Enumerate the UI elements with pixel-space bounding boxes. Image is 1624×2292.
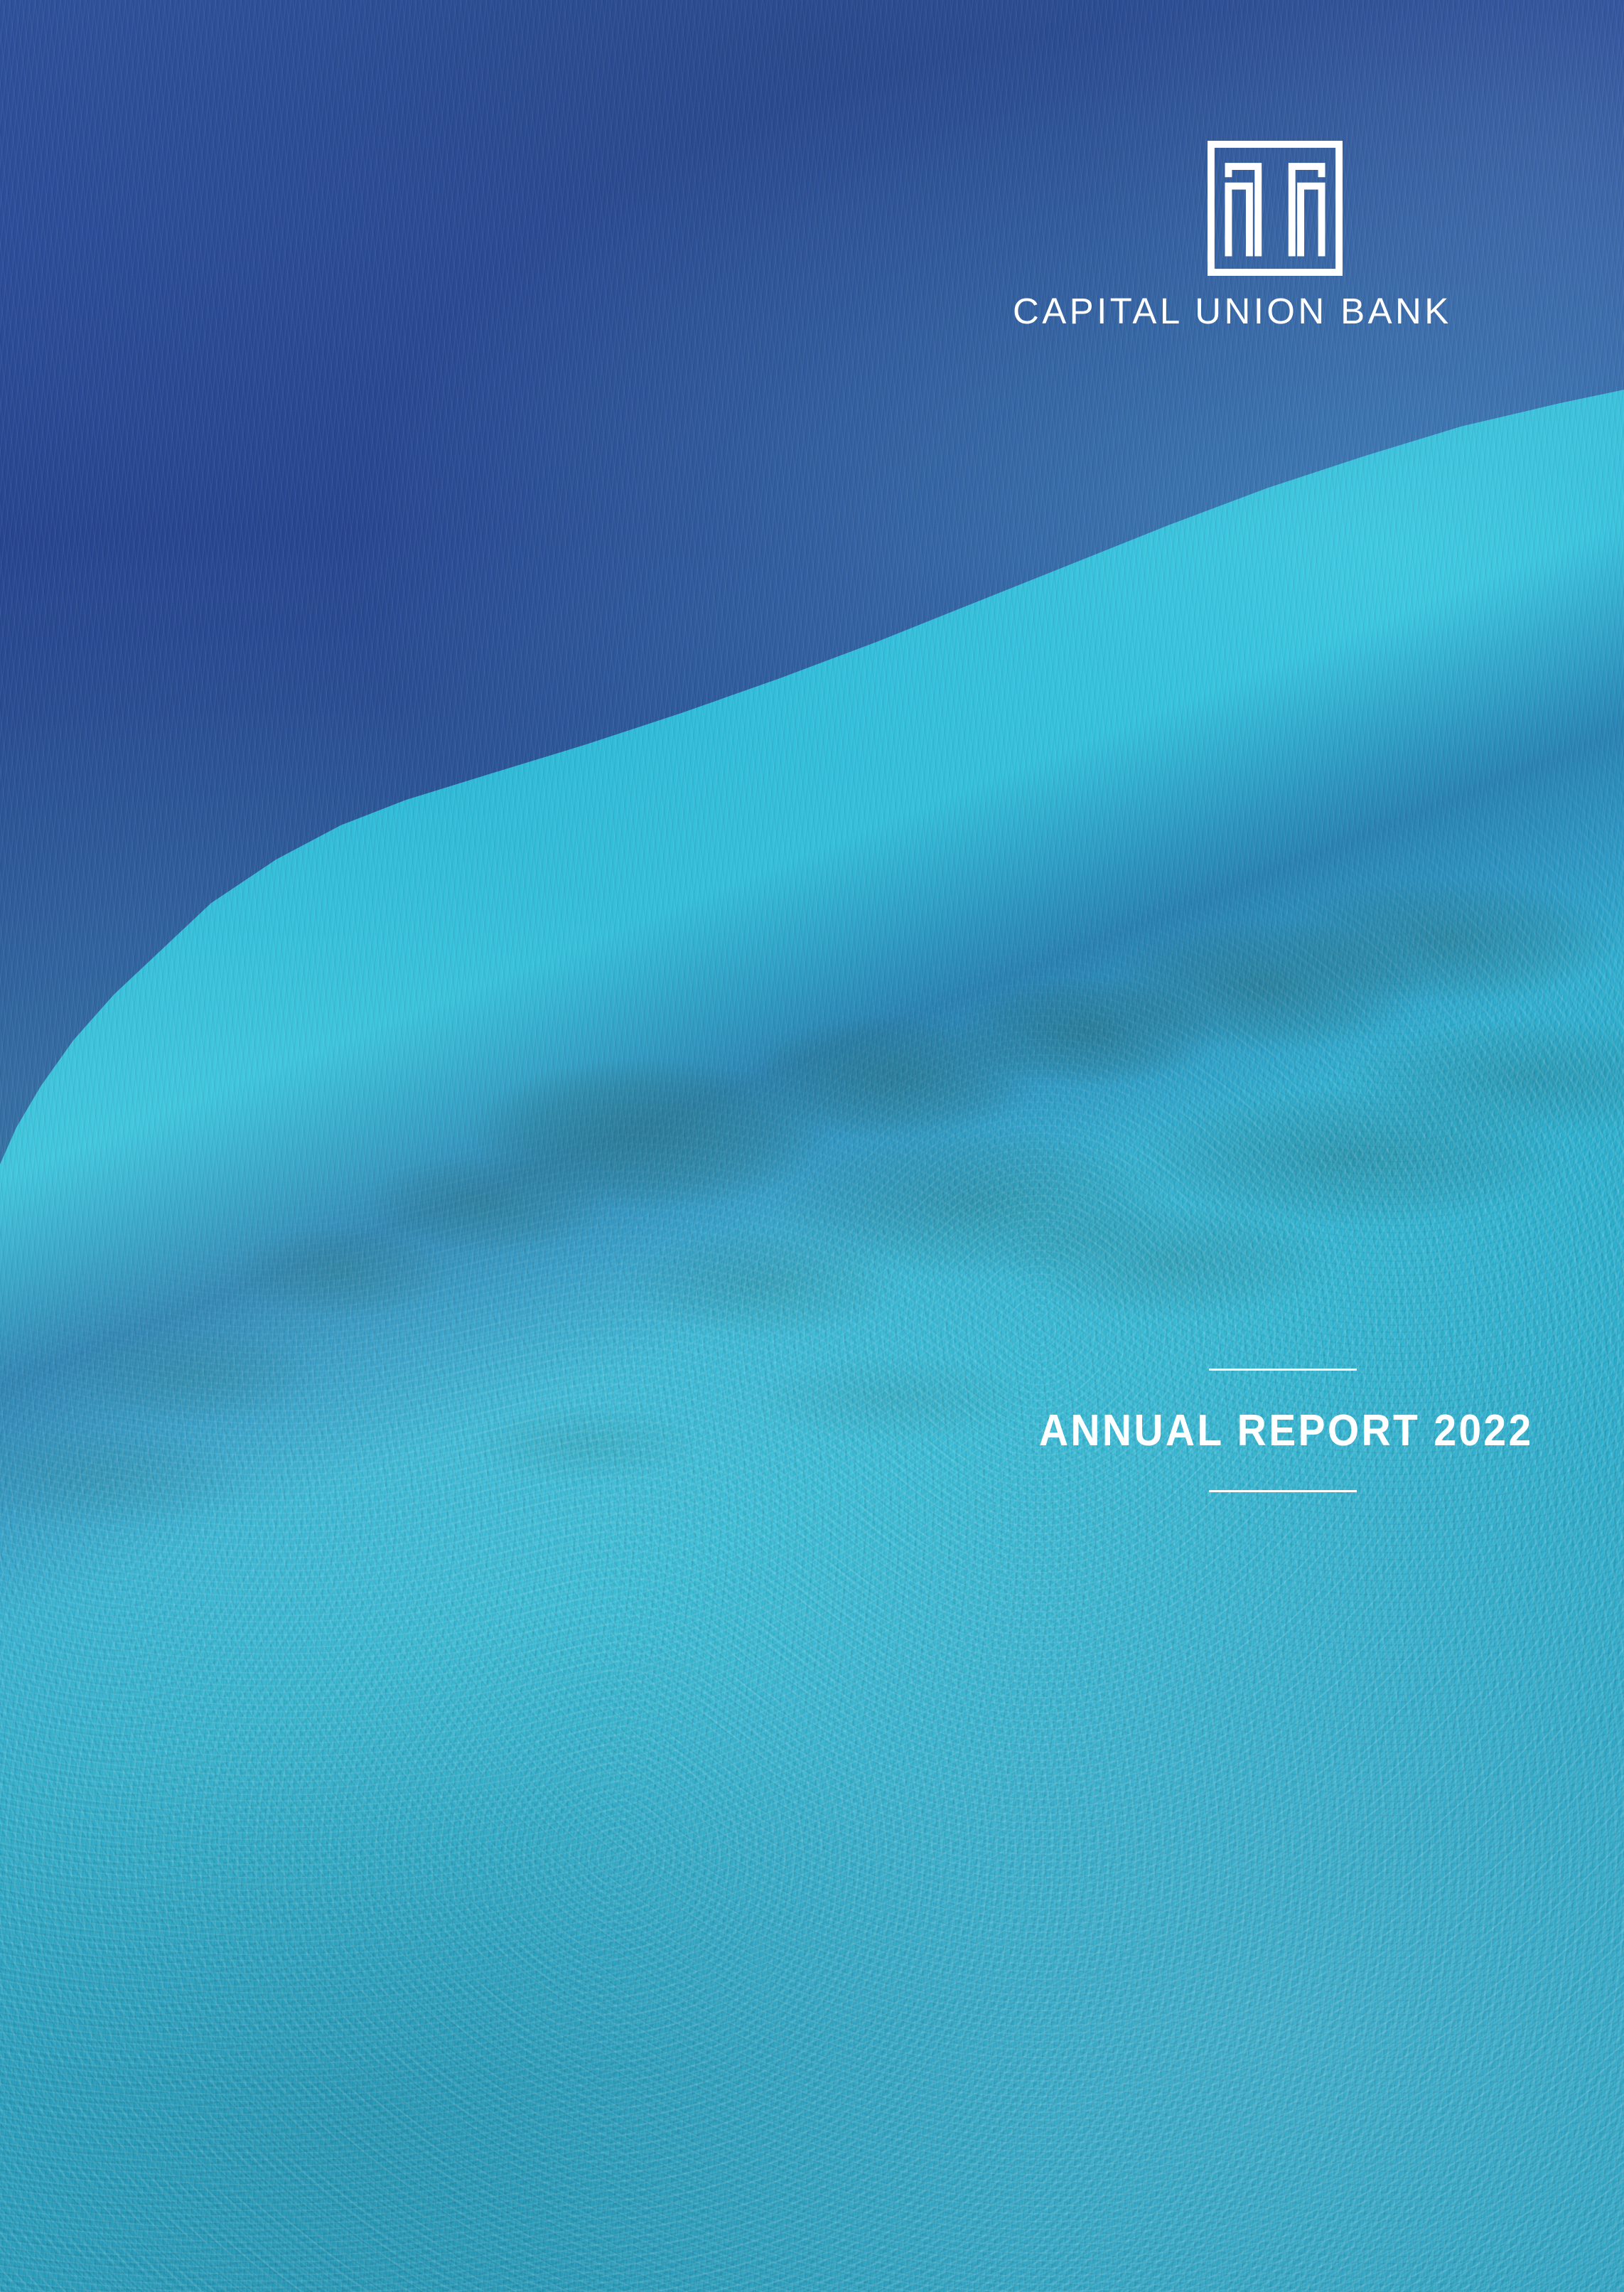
deep-ocean-water-layer	[0, 0, 1624, 2292]
shoal-edge-glow-layer	[0, 0, 1624, 2292]
report-title-block: ANNUAL REPORT 2022	[1018, 1369, 1548, 1492]
annual-report-cover-page: Aerial photograph of a coral reef drop-o…	[0, 0, 1624, 2292]
brand-wordmark: CAPITAL UNION BANK	[1013, 293, 1553, 329]
title-rule-bottom	[1209, 1490, 1357, 1492]
water-caustics-texture	[0, 0, 1624, 2292]
title-rule-top	[1209, 1369, 1357, 1371]
report-title: ANNUAL REPORT 2022	[1039, 1409, 1527, 1453]
brand-lockup: CAPITAL UNION BANK	[1013, 141, 1553, 329]
water-ripple-texture	[0, 0, 1624, 2292]
dropoff-edge-feather	[0, 0, 1624, 2292]
photo-tonal-vignette	[0, 0, 1624, 2292]
lagoon-water-layer	[0, 0, 1624, 2292]
coral-reef-patches-layer	[0, 0, 1624, 2292]
capital-union-bank-columns-logo-icon	[1208, 141, 1343, 276]
